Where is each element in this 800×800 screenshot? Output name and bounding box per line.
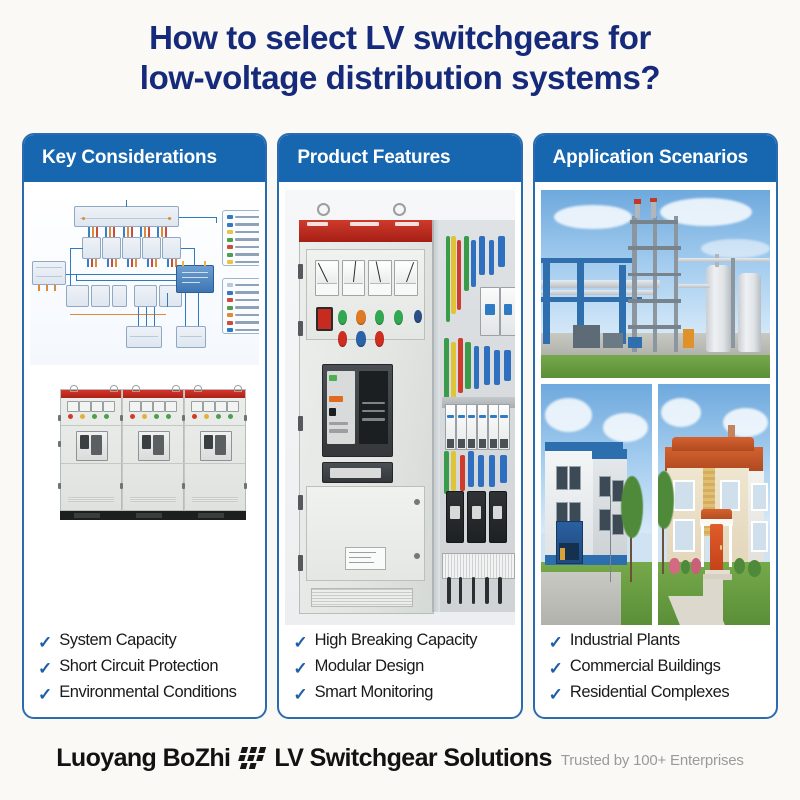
footer-bar: Luoyang BoZhi LV Switchgear Solutions Tr… bbox=[0, 733, 800, 783]
check-icon: ✓ bbox=[293, 683, 307, 703]
footer-tagline: Trusted by 100+ Enterprises bbox=[561, 748, 744, 769]
list-item: ✓ Modular Design bbox=[293, 657, 510, 677]
bullet-label: Residential Complexes bbox=[570, 683, 729, 702]
title-line-2: low-voltage distribution systems? bbox=[60, 58, 740, 98]
bullet-list-product-features: ✓ High Breaking Capacity ✓ Modular Desig… bbox=[285, 625, 514, 717]
media-stack-key-considerations bbox=[30, 190, 259, 625]
industrial-chemical-plant-photo bbox=[541, 190, 770, 378]
list-item: ✓ Residential Complexes bbox=[549, 683, 766, 703]
card-key-considerations[interactable]: Key Considerations bbox=[22, 133, 267, 719]
check-icon: ✓ bbox=[549, 657, 563, 677]
list-item: ✓ System Capacity bbox=[38, 631, 255, 651]
bullet-label: System Capacity bbox=[59, 631, 176, 650]
list-item: ✓ Smart Monitoring bbox=[293, 683, 510, 703]
check-icon: ✓ bbox=[549, 683, 563, 703]
infographic-page: How to select LV switchgears for low-vol… bbox=[0, 0, 800, 800]
card-grid: Key Considerations bbox=[22, 133, 778, 719]
check-icon: ✓ bbox=[38, 683, 52, 703]
product-name: LV Switchgear Solutions bbox=[274, 744, 551, 773]
list-item: ✓ Environmental Conditions bbox=[38, 683, 255, 703]
bullet-label: Smart Monitoring bbox=[315, 683, 433, 702]
bullet-label: Industrial Plants bbox=[570, 631, 680, 650]
diagram-legend-lower bbox=[222, 278, 259, 334]
bullet-label: Short Circuit Protection bbox=[59, 657, 218, 676]
residential-house-photo bbox=[658, 384, 770, 625]
card-product-features[interactable]: Product Features bbox=[277, 133, 522, 719]
bullet-label: Modular Design bbox=[315, 657, 424, 676]
commercial-warehouse-building-photo bbox=[541, 384, 653, 625]
bullet-label: Commercial Buildings bbox=[570, 657, 721, 676]
check-icon: ✓ bbox=[549, 631, 563, 651]
bozhi-grid-logo-icon bbox=[236, 747, 268, 769]
check-icon: ✓ bbox=[38, 657, 52, 677]
media-stack-application-scenarios bbox=[541, 190, 770, 625]
lv-switchgear-lineup-photo bbox=[30, 371, 259, 541]
page-title: How to select LV switchgears for low-vol… bbox=[0, 18, 800, 99]
card-body-application-scenarios: ✓ Industrial Plants ✓ Commercial Buildin… bbox=[535, 182, 776, 717]
company-name: Luoyang BoZhi bbox=[56, 744, 230, 773]
card-body-product-features: ✓ High Breaking Capacity ✓ Modular Desig… bbox=[279, 182, 520, 717]
check-icon: ✓ bbox=[38, 631, 52, 651]
list-item: ✓ Commercial Buildings bbox=[549, 657, 766, 677]
media-stack-product-features bbox=[285, 190, 514, 625]
distribution-system-single-line-diagram bbox=[30, 190, 259, 365]
card-header-key-considerations: Key Considerations bbox=[24, 135, 265, 182]
title-line-1: How to select LV switchgears for bbox=[60, 18, 740, 58]
photo-row-lower bbox=[541, 384, 770, 625]
card-application-scenarios[interactable]: Application Scenarios bbox=[533, 133, 778, 719]
bullet-list-application-scenarios: ✓ Industrial Plants ✓ Commercial Buildin… bbox=[541, 625, 770, 717]
bullet-label: Environmental Conditions bbox=[59, 683, 236, 702]
open-lv-switchgear-cabinet-photo bbox=[285, 190, 514, 625]
card-body-key-considerations: ✓ System Capacity ✓ Short Circuit Protec… bbox=[24, 182, 265, 717]
card-header-application-scenarios: Application Scenarios bbox=[535, 135, 776, 182]
bullet-label: High Breaking Capacity bbox=[315, 631, 478, 650]
list-item: ✓ Industrial Plants bbox=[549, 631, 766, 651]
list-item: ✓ High Breaking Capacity bbox=[293, 631, 510, 651]
card-header-product-features: Product Features bbox=[279, 135, 520, 182]
check-icon: ✓ bbox=[293, 657, 307, 677]
diagram-legend-upper bbox=[222, 210, 259, 266]
check-icon: ✓ bbox=[293, 631, 307, 651]
list-item: ✓ Short Circuit Protection bbox=[38, 657, 255, 677]
bullet-list-key-considerations: ✓ System Capacity ✓ Short Circuit Protec… bbox=[30, 625, 259, 717]
